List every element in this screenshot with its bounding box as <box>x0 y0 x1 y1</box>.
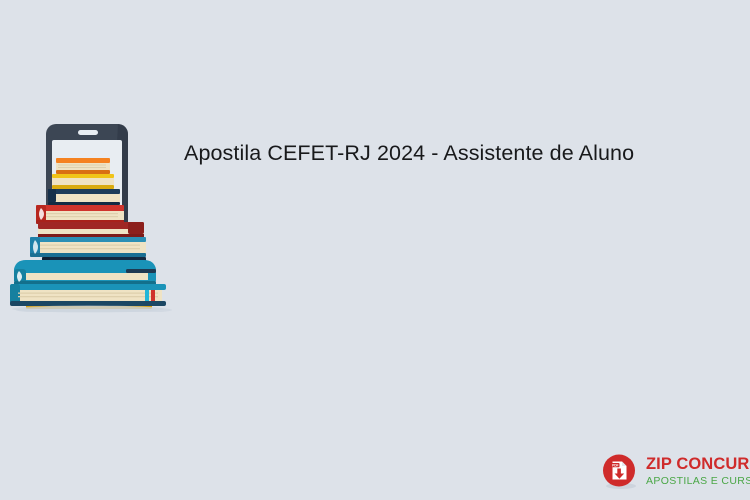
book-navy-small <box>48 189 120 205</box>
page-title: Apostila CEFET-RJ 2024 - Assistente de A… <box>184 139 729 167</box>
book-yellow-small <box>52 174 114 189</box>
books-base-layer <box>8 247 178 317</box>
product-banner: Apostila CEFET-RJ 2024 - Assistente de A… <box>0 0 750 500</box>
book-orange-top <box>56 158 110 174</box>
book-maroon <box>38 222 144 237</box>
brand-name: ZIP CONCURSOS <box>646 456 750 473</box>
book-teal-bottom <box>10 284 166 306</box>
book-red-mid <box>36 205 124 224</box>
book-teal-upper-base <box>14 260 156 285</box>
arrow-tray <box>613 480 625 482</box>
brand-tagline: APOSTILAS E CURSOS <box>646 476 750 487</box>
base-shadow <box>12 306 164 313</box>
bookmark-cyan <box>145 290 149 301</box>
arrow-shaft <box>617 469 621 474</box>
brand-logo[interactable]: PDF ZIP CONCURSOS APOSTILAS E CURSOS <box>600 450 746 492</box>
base-books-graphic <box>8 247 178 317</box>
pdf-download-glyph: PDF <box>600 451 640 491</box>
bookmark-red <box>151 290 155 301</box>
brand-wordmark: ZIP CONCURSOS APOSTILAS E CURSOS <box>646 456 750 486</box>
pdf-badge-label: PDF <box>612 463 618 467</box>
pdf-download-icon: PDF <box>600 451 640 491</box>
